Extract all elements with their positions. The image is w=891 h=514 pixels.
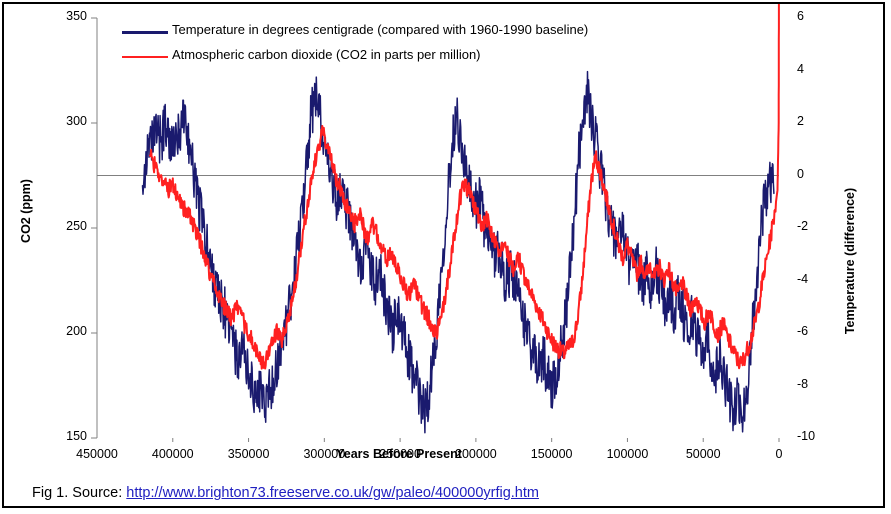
y-tick-label-right: 6	[797, 9, 827, 23]
y-tick-label-left: 150	[39, 429, 87, 443]
y-tick-label-left: 250	[39, 219, 87, 233]
y-tick-label-right: -4	[797, 272, 827, 286]
x-tick-label: 150000	[512, 447, 592, 461]
x-tick-label: 450000	[57, 447, 137, 461]
x-tick-label: 50000	[663, 447, 743, 461]
x-tick-label: 400000	[133, 447, 213, 461]
legend-label: Temperature in degrees centigrade (compa…	[172, 22, 588, 37]
y-tick-label-right: -6	[797, 324, 827, 338]
y-tick-label-right: 2	[797, 114, 827, 128]
x-tick-label: 200000	[436, 447, 516, 461]
y-tick-label-left: 200	[39, 324, 87, 338]
x-tick-label: 250000	[360, 447, 440, 461]
legend-swatch	[122, 56, 168, 58]
y-tick-label-right: -8	[797, 377, 827, 391]
climate-chart	[4, 4, 883, 474]
source-link[interactable]: http://www.brighton73.freeserve.co.uk/gw…	[126, 485, 539, 501]
y-tick-label-left: 300	[39, 114, 87, 128]
legend-label: Atmospheric carbon dioxide (CO2 in parts…	[172, 47, 481, 62]
y-tick-label-right: 4	[797, 62, 827, 76]
y-axis-left-title: CO2 (ppm)	[19, 151, 33, 271]
x-tick-label: 100000	[587, 447, 667, 461]
x-tick-label: 0	[739, 447, 819, 461]
legend-swatch	[122, 31, 168, 34]
y-axis-right-title: Temperature (difference)	[843, 181, 857, 341]
chart-figure: CO2 (ppm) Temperature (difference) Years…	[4, 4, 883, 474]
x-tick-label: 300000	[284, 447, 364, 461]
figure-border: CO2 (ppm) Temperature (difference) Years…	[2, 2, 885, 508]
y-tick-label-right: -2	[797, 219, 827, 233]
x-tick-label: 350000	[209, 447, 289, 461]
figure-caption: Fig 1. Source: http://www.brighton73.fre…	[32, 485, 539, 501]
y-tick-label-right: 0	[797, 167, 827, 181]
y-tick-label-left: 350	[39, 9, 87, 23]
y-tick-label-right: -10	[797, 429, 827, 443]
caption-prefix: Fig 1. Source:	[32, 485, 122, 501]
